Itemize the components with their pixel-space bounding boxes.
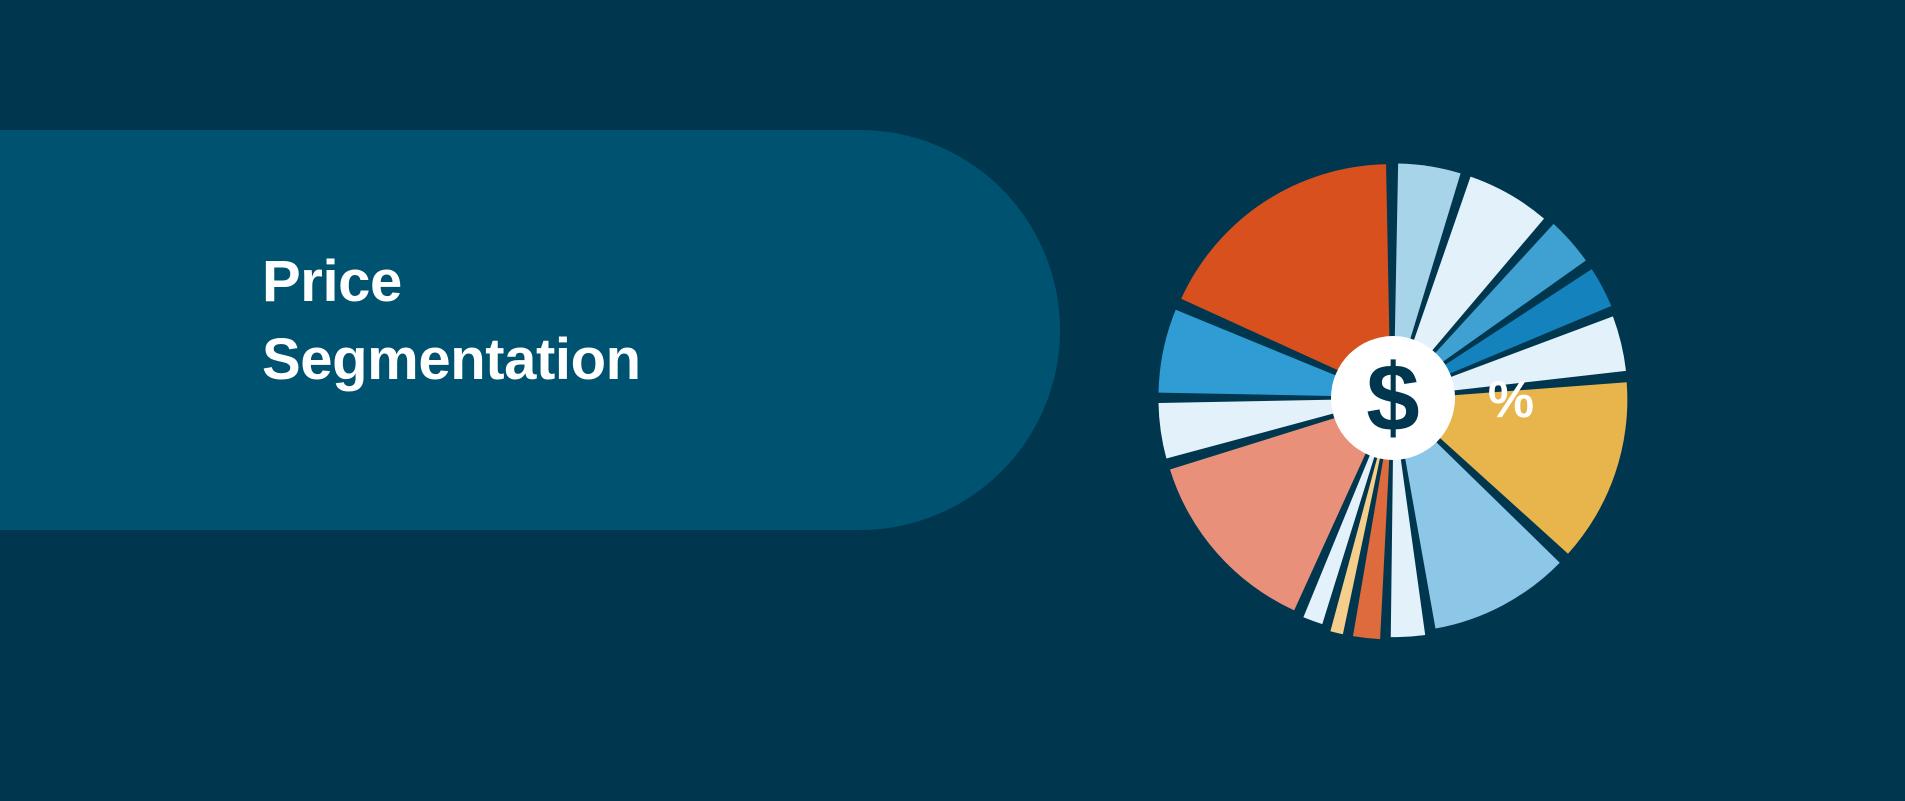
page-title: Price Segmentation: [262, 243, 882, 399]
dollar-sign-icon: $: [1366, 345, 1419, 452]
price-segmentation-pie-chart: $ %: [1163, 168, 1623, 628]
title-line-2: Segmentation: [262, 321, 882, 399]
title-line-1: Price: [262, 243, 882, 321]
banner-canvas: Price Segmentation $ %: [0, 0, 1905, 801]
percent-icon: %: [1488, 371, 1534, 429]
